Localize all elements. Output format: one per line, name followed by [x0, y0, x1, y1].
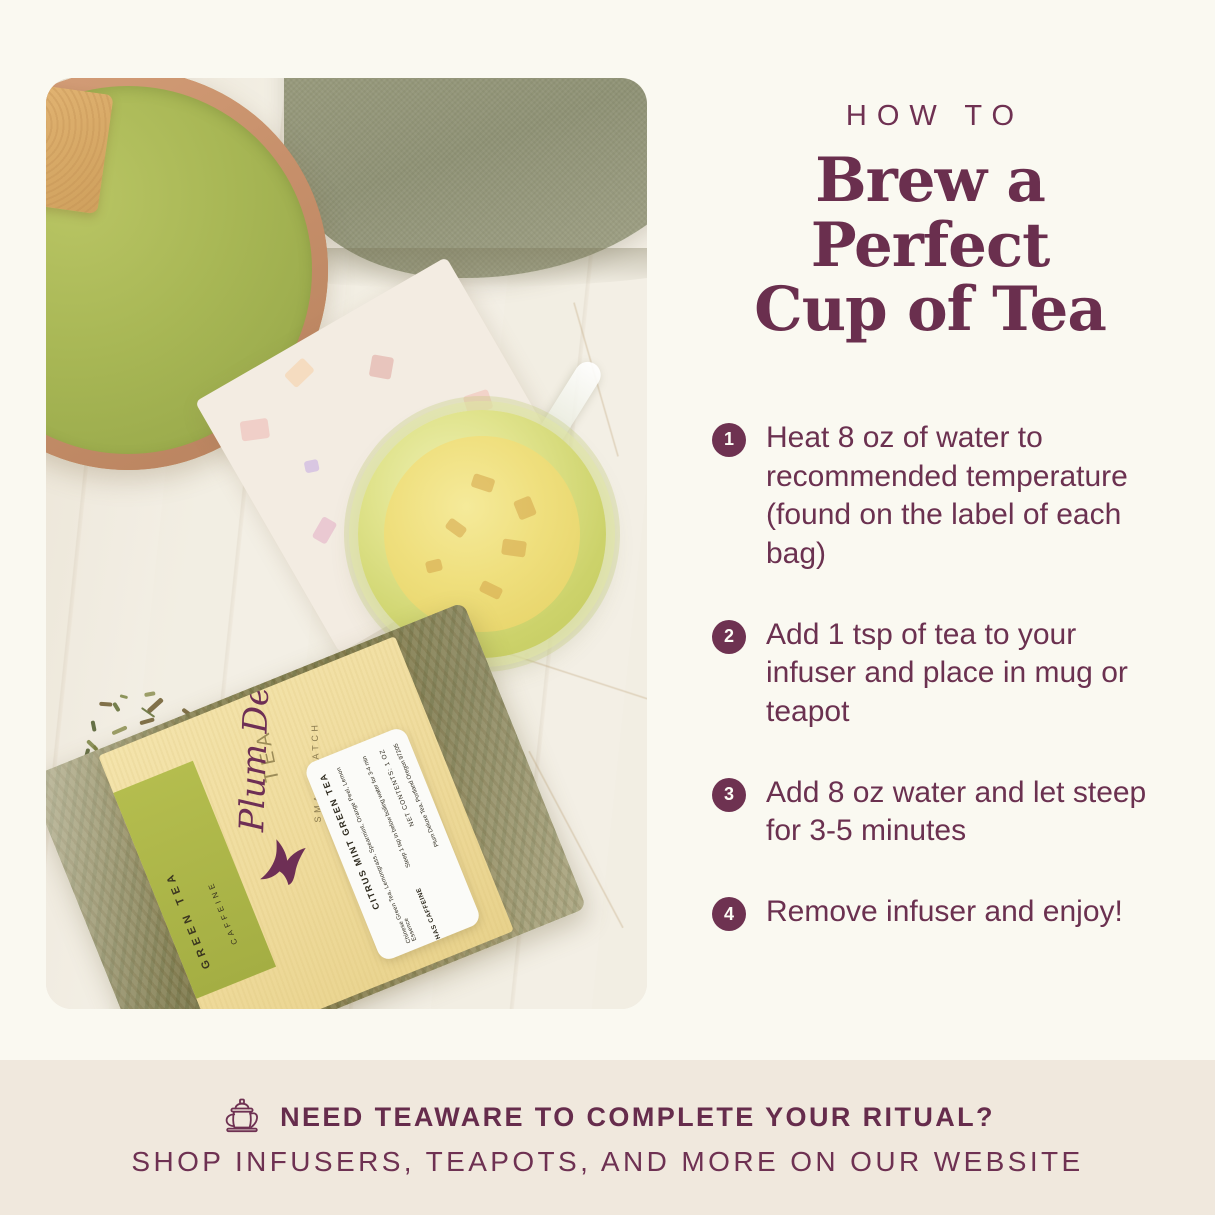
step-number-badge: 3 — [712, 778, 746, 812]
tea-leaf — [111, 725, 128, 735]
tea-leaf — [470, 473, 495, 493]
tea-leaf — [425, 558, 443, 574]
infographic-page: GREEN TEA CAFFEINE TEA SMALL BATCH HAND … — [0, 0, 1215, 1215]
step-number-badge: 2 — [712, 620, 746, 654]
sticker-caffeine: HAS CAFFEINE — [415, 886, 442, 940]
step-item: 1Heat 8 oz of water to recommended tempe… — [712, 419, 1170, 574]
instructions-panel: HOW TO Brew a Perfect Cup of Tea 1Heat 8… — [690, 100, 1170, 932]
step-text: Remove infuser and enjoy! — [766, 893, 1123, 932]
title-line-1: Brew a Perfect — [690, 149, 1170, 278]
terrazzo-chip — [240, 418, 271, 442]
step-text: Heat 8 oz of water to recommended temper… — [766, 419, 1166, 574]
tea-leaf — [501, 538, 527, 557]
tea-leaf — [144, 692, 156, 698]
step-text: Add 1 tsp of tea to your infuser and pla… — [766, 616, 1166, 732]
step-item: 4Remove infuser and enjoy! — [712, 893, 1170, 932]
title-line-2: Cup of Tea — [690, 278, 1170, 343]
cta-line-2[interactable]: SHOP INFUSERS, TEAPOTS, AND MORE ON OUR … — [131, 1146, 1083, 1178]
eyebrow-label: HOW TO — [690, 100, 1170, 133]
hero-photo: GREEN TEA CAFFEINE TEA SMALL BATCH HAND … — [46, 78, 647, 1009]
cta-banner[interactable]: NEED TEAWARE TO COMPLETE YOUR RITUAL? SH… — [0, 1060, 1215, 1215]
step-item: 3Add 8 oz water and let steep for 3-5 mi… — [712, 774, 1170, 851]
tea-leaf — [99, 701, 113, 706]
page-title: Brew a Perfect Cup of Tea — [690, 149, 1170, 343]
cta-headline-row: NEED TEAWARE TO COMPLETE YOUR RITUAL? — [220, 1097, 995, 1137]
linen-napkin — [284, 78, 647, 278]
brewed-tea — [384, 436, 580, 632]
tea-leaf — [140, 718, 155, 725]
terrazzo-chip — [284, 357, 315, 388]
tea-leaf — [444, 517, 467, 538]
teapot-icon — [220, 1097, 264, 1137]
hummingbird-logo-icon — [248, 825, 324, 895]
terrazzo-chip — [312, 516, 338, 545]
tea-leaf — [112, 702, 120, 712]
tea-leaf — [478, 580, 503, 600]
step-number-badge: 1 — [712, 423, 746, 457]
glass-teacup — [358, 410, 606, 658]
cta-line-1: NEED TEAWARE TO COMPLETE YOUR RITUAL? — [280, 1102, 995, 1133]
terrazzo-chip — [304, 459, 320, 474]
step-number-badge: 4 — [712, 897, 746, 931]
tea-leaf — [91, 720, 97, 731]
tea-leaf — [120, 694, 129, 699]
step-item: 2Add 1 tsp of tea to your infuser and pl… — [712, 616, 1170, 732]
terrazzo-chip — [369, 354, 394, 379]
tea-leaf — [513, 495, 537, 520]
steps-list: 1Heat 8 oz of water to recommended tempe… — [690, 419, 1170, 932]
step-text: Add 8 oz water and let steep for 3-5 min… — [766, 774, 1166, 851]
